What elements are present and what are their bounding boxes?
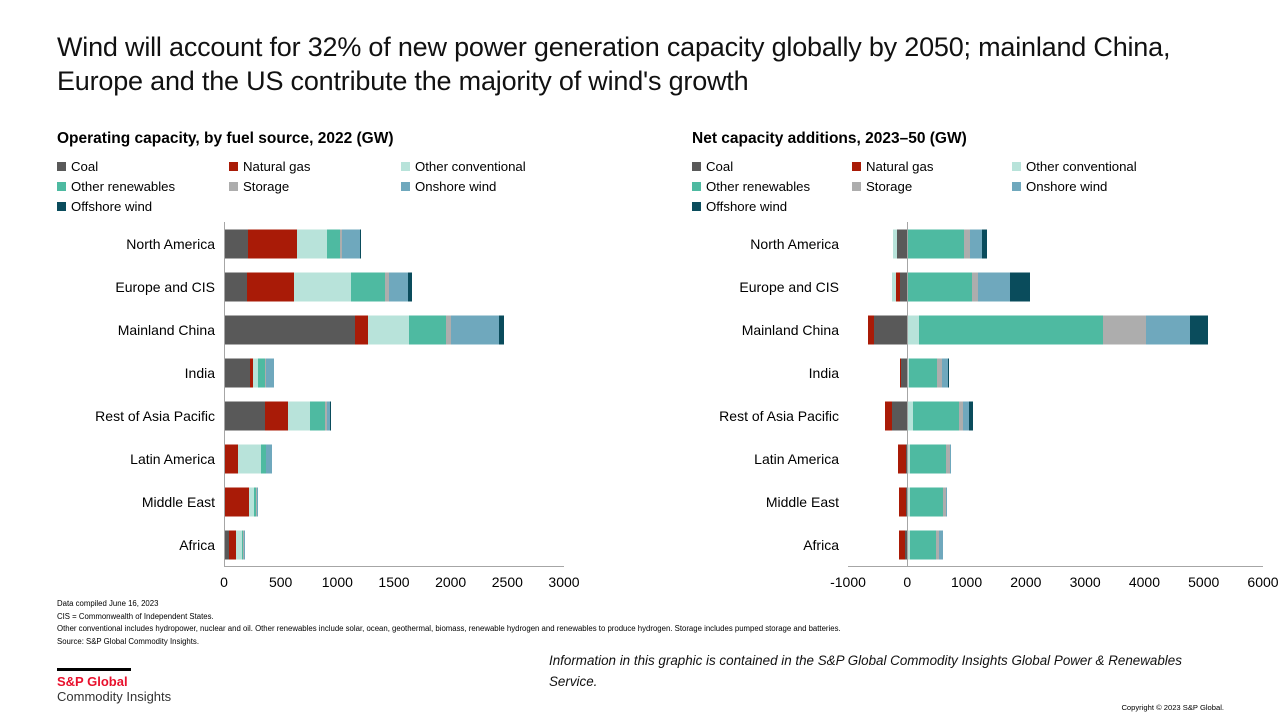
- category-label: Latin America: [57, 437, 224, 480]
- chart-row: Mainland China: [57, 308, 657, 351]
- stacked-bar-negative[interactable]: [868, 315, 907, 344]
- row-plot-area: [224, 308, 564, 351]
- logo-line-2: Commodity Insights: [57, 689, 171, 705]
- legend-item-other_renewables[interactable]: Other renewables: [57, 176, 229, 196]
- bar-segment-other_renewables[interactable]: [409, 315, 446, 344]
- chart-title-right: Net capacity additions, 2023–50 (GW): [692, 130, 1237, 148]
- row-plot-area: [848, 351, 1263, 394]
- footnote-cis-definition: CIS = Commonwealth of Independent States…: [57, 611, 1177, 624]
- bar-segment-storage[interactable]: [964, 229, 971, 258]
- bar-segment-natural_gas[interactable]: [265, 401, 288, 430]
- x-axis-tick: 1000: [951, 574, 982, 590]
- row-plot-area: [224, 523, 564, 566]
- stacked-bar-positive[interactable]: [907, 229, 986, 258]
- logo-rule: [57, 668, 131, 671]
- category-label: India: [57, 351, 224, 394]
- x-axis-tick: 0: [220, 574, 228, 590]
- stacked-bar-positive[interactable]: [224, 229, 361, 258]
- bar-segment-offshore_wind[interactable]: [499, 315, 504, 344]
- x-axis-tick: 5000: [1188, 574, 1219, 590]
- bar-segment-other_renewables[interactable]: [907, 229, 963, 258]
- bar-segment-coal[interactable]: [874, 315, 907, 344]
- bar-segment-other_conventional[interactable]: [288, 401, 310, 430]
- bar-segment-natural_gas[interactable]: [247, 272, 295, 301]
- bar-segment-coal[interactable]: [901, 358, 908, 387]
- stacked-bar-positive[interactable]: [224, 272, 412, 301]
- bar-segment-natural_gas[interactable]: [355, 315, 367, 344]
- legend-item-offshore_wind[interactable]: Offshore wind: [57, 196, 229, 216]
- stacked-bar-negative[interactable]: [899, 487, 907, 516]
- bar-segment-onshore_wind[interactable]: [342, 229, 360, 258]
- legend-item-other_conventional[interactable]: Other conventional: [401, 156, 601, 176]
- stacked-bar-positive[interactable]: [224, 530, 244, 559]
- bar-segment-other_renewables[interactable]: [919, 315, 1103, 344]
- stacked-bar-positive[interactable]: [224, 487, 257, 516]
- bar-segment-other_renewables[interactable]: [909, 358, 937, 387]
- bar-segment-other_conventional[interactable]: [297, 229, 327, 258]
- x-axis-line: [224, 566, 564, 567]
- bar-segment-offshore_wind[interactable]: [1190, 315, 1208, 344]
- legend-label: Storage: [243, 179, 289, 194]
- legend-item-natural_gas[interactable]: Natural gas: [229, 156, 401, 176]
- chart-row: Middle East: [692, 480, 1237, 523]
- x-axis-tick: 6000: [1247, 574, 1278, 590]
- legend-label: Other renewables: [71, 179, 175, 194]
- bar-segment-offshore_wind[interactable]: [969, 401, 973, 430]
- legend-item-storage[interactable]: Storage: [229, 176, 401, 196]
- footnotes: Data compiled June 16, 2023 CIS = Common…: [57, 598, 1177, 648]
- row-plot-area: [848, 265, 1263, 308]
- bar-segment-other_conventional[interactable]: [294, 272, 351, 301]
- x-axis-tick: 4000: [1129, 574, 1160, 590]
- bar-segment-coal[interactable]: [900, 272, 907, 301]
- bar-segment-coal[interactable]: [224, 272, 247, 301]
- legend-item-natural_gas[interactable]: Natural gas: [852, 156, 1012, 176]
- category-label: Latin America: [692, 437, 848, 480]
- bar-segment-offshore_wind[interactable]: [1010, 272, 1030, 301]
- chart-row: Africa: [692, 523, 1237, 566]
- bar-segment-offshore_wind[interactable]: [360, 229, 361, 258]
- bar-segment-onshore_wind[interactable]: [970, 229, 981, 258]
- chart-legend-right: CoalNatural gasOther conventionalOther r…: [692, 156, 1237, 216]
- stacked-bar-positive[interactable]: [907, 272, 1029, 301]
- bar-segment-other_renewables[interactable]: [907, 272, 972, 301]
- chart-plot-left: North AmericaEurope and CISMainland Chin…: [57, 222, 657, 567]
- row-plot-area: [848, 480, 1263, 523]
- legend-swatch-onshore_wind-icon: [401, 182, 410, 191]
- bar-segment-onshore_wind[interactable]: [244, 530, 245, 559]
- x-axis-tick: 0: [903, 574, 911, 590]
- bar-segment-other_renewables[interactable]: [310, 401, 325, 430]
- chart-row: Europe and CIS: [692, 265, 1237, 308]
- stacked-bar-negative[interactable]: [899, 530, 907, 559]
- bar-segment-onshore_wind[interactable]: [939, 530, 944, 559]
- legend-swatch-other_renewables-icon: [57, 182, 66, 191]
- chart-panel-net-capacity-additions: Net capacity additions, 2023–50 (GW) Coa…: [692, 130, 1237, 567]
- bar-segment-other_renewables[interactable]: [258, 358, 265, 387]
- x-axis-tick: -1000: [830, 574, 866, 590]
- legend-label: Natural gas: [243, 159, 310, 174]
- category-label: North America: [692, 222, 848, 265]
- legend-swatch-onshore_wind-icon: [1012, 182, 1021, 191]
- row-plot-area: [848, 308, 1263, 351]
- bar-segment-other_renewables[interactable]: [910, 487, 942, 516]
- stacked-bar-positive[interactable]: [907, 530, 943, 559]
- chart-row: India: [57, 351, 657, 394]
- bar-segment-natural_gas[interactable]: [899, 487, 906, 516]
- legend-label: Storage: [866, 179, 912, 194]
- row-plot-area: [224, 265, 564, 308]
- legend-swatch-other_conventional-icon: [401, 162, 410, 171]
- chart-row: Rest of Asia Pacific: [692, 394, 1237, 437]
- legend-swatch-coal-icon: [57, 162, 66, 171]
- row-plot-area: [224, 437, 564, 480]
- legend-item-onshore_wind[interactable]: Onshore wind: [401, 176, 601, 196]
- x-axis-tick: 1000: [322, 574, 353, 590]
- legend-item-offshore_wind[interactable]: Offshore wind: [692, 196, 852, 216]
- bar-segment-onshore_wind[interactable]: [389, 272, 408, 301]
- legend-swatch-coal-icon: [692, 162, 701, 171]
- legend-item-coal[interactable]: Coal: [692, 156, 852, 176]
- x-axis-tick: 2000: [435, 574, 466, 590]
- bar-segment-coal[interactable]: [224, 315, 355, 344]
- stacked-bar-positive[interactable]: [224, 315, 504, 344]
- legend-label: Natural gas: [866, 159, 933, 174]
- legend-label: Other conventional: [1026, 159, 1137, 174]
- category-label: Africa: [57, 523, 224, 566]
- chart-row: North America: [692, 222, 1237, 265]
- category-label: Rest of Asia Pacific: [57, 394, 224, 437]
- category-label: Africa: [692, 523, 848, 566]
- sp-global-logo: S&P Global Commodity Insights: [57, 668, 171, 705]
- bar-segment-other_conventional[interactable]: [907, 315, 919, 344]
- bar-segment-natural_gas[interactable]: [225, 444, 239, 473]
- chart-row: India: [692, 351, 1237, 394]
- bar-segment-onshore_wind[interactable]: [266, 358, 274, 387]
- stacked-bar-negative[interactable]: [898, 444, 907, 473]
- chart-row: North America: [57, 222, 657, 265]
- bar-segment-natural_gas[interactable]: [898, 444, 906, 473]
- category-label: India: [692, 351, 848, 394]
- chart-row: Middle East: [57, 480, 657, 523]
- bar-segment-coal[interactable]: [224, 401, 265, 430]
- stacked-bar-positive[interactable]: [907, 401, 973, 430]
- bar-segment-onshore_wind[interactable]: [946, 487, 947, 516]
- x-axis-tick-labels: -10000100020003000400050006000: [848, 574, 1263, 598]
- bar-segment-natural_gas[interactable]: [229, 530, 236, 559]
- bar-segment-onshore_wind[interactable]: [451, 315, 500, 344]
- row-plot-area: [848, 523, 1263, 566]
- stacked-bar-positive[interactable]: [224, 401, 331, 430]
- x-axis-tick: 500: [269, 574, 292, 590]
- bar-segment-natural_gas[interactable]: [225, 487, 249, 516]
- category-label: Europe and CIS: [692, 265, 848, 308]
- legend-item-coal[interactable]: Coal: [57, 156, 229, 176]
- bar-segment-onshore_wind[interactable]: [257, 487, 258, 516]
- bar-segment-onshore_wind[interactable]: [1146, 315, 1190, 344]
- legend-label: Other conventional: [415, 159, 526, 174]
- chart-row: Rest of Asia Pacific: [57, 394, 657, 437]
- service-note: Information in this graphic is contained…: [549, 650, 1209, 692]
- page-title: Wind will account for 32% of new power g…: [57, 30, 1207, 98]
- bar-segment-other_renewables[interactable]: [913, 401, 959, 430]
- footnote-definitions: Other conventional includes hydropower, …: [57, 623, 1177, 636]
- category-label: Mainland China: [57, 308, 224, 351]
- bar-segment-coal[interactable]: [892, 401, 907, 430]
- x-axis-tick: 2000: [1010, 574, 1041, 590]
- bar-segment-onshore_wind[interactable]: [950, 444, 951, 473]
- legend-label: Onshore wind: [1026, 179, 1107, 194]
- legend-label: Coal: [71, 159, 98, 174]
- stacked-bar-negative[interactable]: [900, 358, 907, 387]
- chart-panel-operating-capacity: Operating capacity, by fuel source, 2022…: [57, 130, 657, 567]
- chart-plot-right: North AmericaEurope and CISMainland Chin…: [692, 222, 1237, 567]
- bar-segment-other_conventional[interactable]: [368, 315, 409, 344]
- legend-swatch-other_conventional-icon: [1012, 162, 1021, 171]
- chart-row: Africa: [57, 523, 657, 566]
- bar-segment-onshore_wind[interactable]: [266, 444, 271, 473]
- bar-segment-coal[interactable]: [897, 229, 907, 258]
- copyright-text: Copyright © 2023 S&P Global.: [1121, 703, 1224, 712]
- row-plot-area: [224, 351, 564, 394]
- zero-axis-line: [907, 222, 908, 566]
- legend-label: Offshore wind: [71, 199, 152, 214]
- stacked-bar-negative[interactable]: [893, 229, 907, 258]
- legend-swatch-offshore_wind-icon: [692, 202, 701, 211]
- legend-swatch-natural_gas-icon: [229, 162, 238, 171]
- row-plot-area: [848, 437, 1263, 480]
- legend-label: Offshore wind: [706, 199, 787, 214]
- bar-segment-coal[interactable]: [224, 358, 250, 387]
- legend-label: Onshore wind: [415, 179, 496, 194]
- row-plot-area: [848, 394, 1263, 437]
- stacked-bar-positive[interactable]: [907, 358, 948, 387]
- legend-swatch-other_renewables-icon: [692, 182, 701, 191]
- footnote-source: Source: S&P Global Commodity Insights.: [57, 636, 1177, 649]
- logo-line-1: S&P Global: [57, 674, 171, 689]
- bar-segment-other_renewables[interactable]: [910, 530, 937, 559]
- bar-segment-onshore_wind[interactable]: [978, 272, 1009, 301]
- row-plot-area: [224, 480, 564, 523]
- chart-row: Latin America: [57, 437, 657, 480]
- chart-row: Latin America: [692, 437, 1237, 480]
- legend-label: Other renewables: [706, 179, 810, 194]
- legend-item-onshore_wind[interactable]: Onshore wind: [1012, 176, 1202, 196]
- x-axis-tick: 3000: [548, 574, 579, 590]
- x-axis-tick-labels: 050010001500200025003000: [224, 574, 564, 598]
- stacked-bar-positive[interactable]: [907, 444, 950, 473]
- x-axis-tick: 3000: [1070, 574, 1101, 590]
- zero-axis-line: [224, 222, 225, 566]
- bar-segment-coal[interactable]: [224, 229, 248, 258]
- category-label: Rest of Asia Pacific: [692, 394, 848, 437]
- legend-swatch-offshore_wind-icon: [57, 202, 66, 211]
- bar-segment-offshore_wind[interactable]: [408, 272, 411, 301]
- category-label: North America: [57, 222, 224, 265]
- x-axis-tick: 1500: [378, 574, 409, 590]
- legend-swatch-storage-icon: [229, 182, 238, 191]
- bar-segment-other_renewables[interactable]: [327, 229, 339, 258]
- legend-swatch-storage-icon: [852, 182, 861, 191]
- category-label: Middle East: [692, 480, 848, 523]
- bar-segment-other_conventional[interactable]: [238, 444, 261, 473]
- x-axis-tick: 2500: [492, 574, 523, 590]
- stacked-bar-negative[interactable]: [892, 272, 907, 301]
- bar-segment-other_renewables[interactable]: [351, 272, 385, 301]
- bar-segment-natural_gas[interactable]: [248, 229, 297, 258]
- row-plot-area: [224, 394, 564, 437]
- stacked-bar-positive[interactable]: [907, 487, 947, 516]
- category-label: Mainland China: [692, 308, 848, 351]
- bar-segment-storage[interactable]: [1103, 315, 1146, 344]
- legend-label: Coal: [706, 159, 733, 174]
- stacked-bar-positive[interactable]: [224, 358, 274, 387]
- bar-segment-offshore_wind[interactable]: [982, 229, 987, 258]
- x-axis-line: [848, 566, 1263, 567]
- row-plot-area: [848, 222, 1263, 265]
- footnote-data-compiled: Data compiled June 16, 2023: [57, 598, 1177, 611]
- stacked-bar-positive[interactable]: [224, 444, 272, 473]
- legend-item-storage[interactable]: Storage: [852, 176, 1012, 196]
- legend-swatch-natural_gas-icon: [852, 162, 861, 171]
- chart-row: Mainland China: [692, 308, 1237, 351]
- chart-legend-left: CoalNatural gasOther conventionalOther r…: [57, 156, 657, 216]
- row-plot-area: [224, 222, 564, 265]
- bar-segment-offshore_wind[interactable]: [330, 401, 331, 430]
- category-label: Europe and CIS: [57, 265, 224, 308]
- category-label: Middle East: [57, 480, 224, 523]
- stacked-bar-negative[interactable]: [885, 401, 907, 430]
- legend-item-other_renewables[interactable]: Other renewables: [692, 176, 852, 196]
- legend-item-other_conventional[interactable]: Other conventional: [1012, 156, 1202, 176]
- bar-segment-other_renewables[interactable]: [910, 444, 946, 473]
- stacked-bar-positive[interactable]: [907, 315, 1208, 344]
- chart-title-left: Operating capacity, by fuel source, 2022…: [57, 130, 657, 148]
- chart-row: Europe and CIS: [57, 265, 657, 308]
